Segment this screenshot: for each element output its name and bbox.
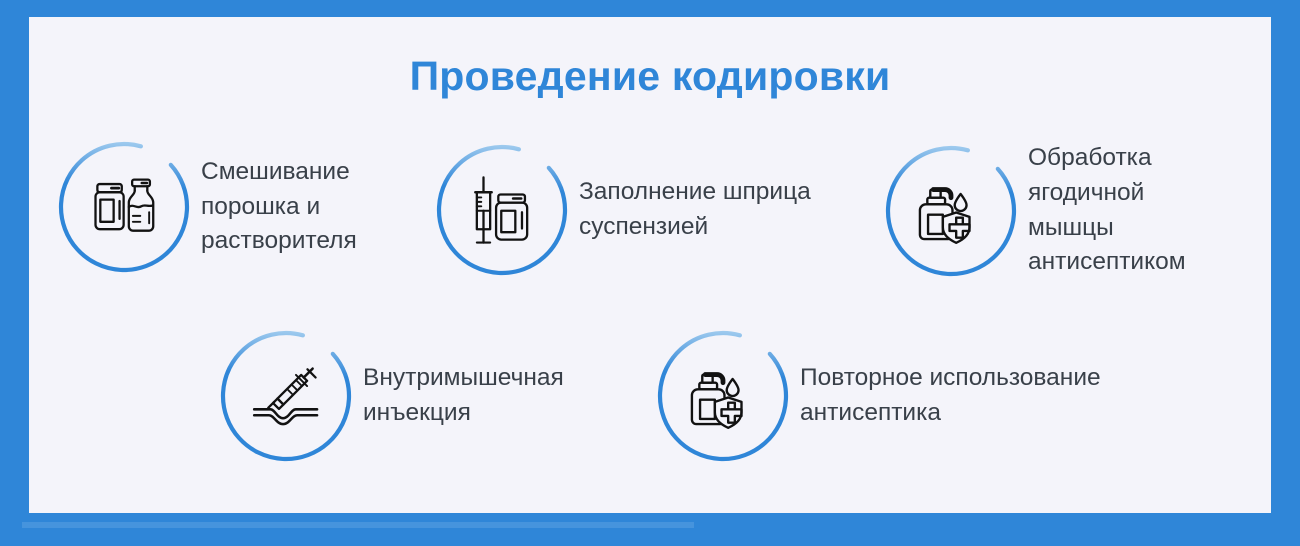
step-4-icon-badge [217,327,355,465]
step-4-label: Внутримышечная инъекция [363,361,564,431]
step-item-5: Повторное использование антисептика [654,327,1101,465]
antiseptic-pump-bottle-shield-icon [914,174,988,248]
syringe-and-vial-icon [465,173,539,247]
step-item-3: Обработка ягодичной мышцы антисептиком [882,141,1271,280]
step-5-label: Повторное использование антисептика [800,361,1101,431]
step-2-icon-badge [433,141,571,279]
step-item-1: Смешивание порошка и растворителя [55,138,357,276]
step-3-icon-badge [882,142,1020,280]
step-item-2: Заполнение шприца суспензией [433,141,811,279]
page-title: Проведение кодировки [29,53,1271,100]
step-5-icon-badge [654,327,792,465]
step-2-label: Заполнение шприца суспензией [579,175,811,245]
step-1-label: Смешивание порошка и растворителя [201,155,357,259]
step-3-label: Обработка ягодичной мышцы антисептиком [1028,141,1271,280]
intramuscular-injection-icon [249,359,323,433]
poster-card: Проведение кодировки [29,17,1271,513]
step-item-4: Внутримышечная инъекция [217,327,564,465]
poster-frame: Проведение кодировки [0,0,1300,546]
powder-vial-and-solvent-bottle-icon [87,170,161,244]
antiseptic-pump-bottle-shield-icon [686,359,760,433]
step-1-icon-badge [55,138,193,276]
frame-accent-strip [22,522,694,528]
